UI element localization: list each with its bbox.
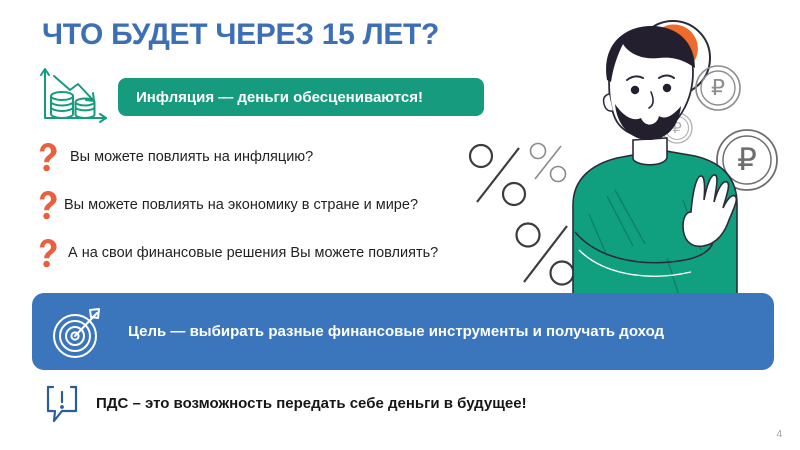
percent-symbol-icon: [466, 140, 530, 210]
question-label: А на свои финансовые решения Вы можете п…: [64, 245, 438, 261]
question-mark-icon: [36, 238, 58, 268]
inflation-banner: Инфляция — деньги обесцениваются!: [118, 78, 484, 116]
target-arrow-icon: [50, 304, 106, 360]
ruble-coin-icon: ₽: [696, 66, 740, 110]
question-row: Вы можете повлиять на экономику в стране…: [36, 190, 418, 220]
question-label: Вы можете повлиять на инфляцию?: [64, 149, 313, 165]
svg-text:₽: ₽: [737, 142, 757, 177]
goal-banner-label: Цель — выбирать разные финансовые инстру…: [128, 323, 664, 340]
speech-bubble-exclamation-icon: [42, 382, 82, 424]
question-mark-icon: [36, 190, 58, 220]
page-number: 4: [776, 429, 782, 440]
falling-coins-chart-icon: [36, 66, 110, 124]
svg-text:₽: ₽: [711, 75, 725, 100]
goal-banner: Цель — выбирать разные финансовые инстру…: [32, 293, 774, 370]
question-label: Вы можете повлиять на экономику в стране…: [64, 197, 418, 213]
page-title: ЧТО БУДЕТ ЧЕРЕЗ 15 ЛЕТ?: [42, 18, 439, 52]
inflation-banner-label: Инфляция — деньги обесцениваются!: [118, 89, 423, 106]
question-row: Вы можете повлиять на инфляцию?: [36, 142, 313, 172]
pds-row: ПДС – это возможность передать себе день…: [42, 382, 527, 424]
thinking-man-illustration: ₽ ₽ ₽: [555, 0, 800, 300]
question-row: А на свои финансовые решения Вы можете п…: [36, 238, 438, 268]
question-mark-icon: [36, 142, 58, 172]
pds-label: ПДС – это возможность передать себе день…: [96, 395, 527, 412]
slide-canvas: ЧТО БУДЕТ ЧЕРЕЗ 15 ЛЕТ?: [0, 0, 800, 450]
